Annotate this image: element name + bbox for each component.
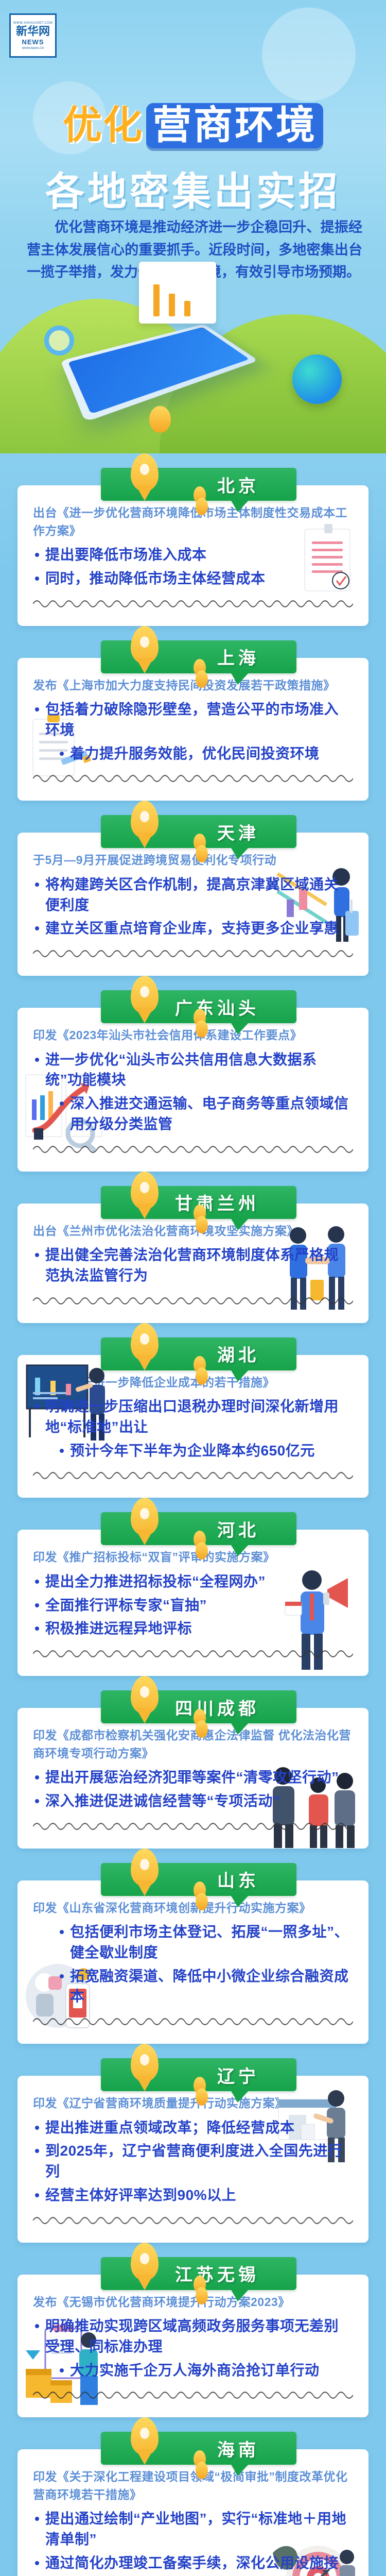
wave-divider [33,772,353,785]
city-name: 四川成都 [175,1694,259,1720]
bullet-item: 明确进一步压缩出口退税办理时间深化新增用地“标准地”出让 [33,1396,353,1437]
bullet-item: 提出全力推进招标投标“全程网办” [33,1571,353,1592]
wave-divider [33,947,353,960]
city-name: 广东汕头 [175,994,259,1020]
bullet-item: 拓宽融资渠道、降低中小微企业综合融资成本 [33,1966,353,2007]
location-pin-icon [131,1172,159,1210]
globe-icon [292,354,342,404]
city-card: 出台《关于进一步降低企业成本的若干措施》 明确进一步压缩出口退税办理时间深化新增… [17,1355,369,1498]
pin-hole [140,1686,149,1698]
city-name: 河北 [217,1516,259,1541]
dot-right-decor [196,1367,208,1385]
policy-document-title: 印发《关于深化工程建设项目领域“极简审批”制度改革优化营商环境若干措施》 [33,2468,353,2503]
measure-list: 将构建跨关区合作机制，提高京津冀区域通关便利度建立关区重点培育企业库，支持更多企… [33,874,353,939]
logo-news-text: NEWS [22,38,44,46]
city-badge[interactable]: 海南 [101,2432,296,2465]
bullet-item: 经营主体好评率达到90%以上 [33,2185,353,2206]
city-name: 北京 [217,472,259,497]
measure-list: 提出推进重点领域改革；降低经营成本到2025年，辽宁省营商便利度进入全国先进行列… [33,2117,353,2206]
dot-right-decor [196,670,208,688]
measure-list: 提出要降低市场准入成本同时，推动降低市场主体经营成本 [33,545,353,589]
city-card: 印发《推广招标投标“双盲”评审的实施方案》 提出全力推进招标投标“全程网办”全面… [17,1530,369,1676]
bullet-item: 建立关区重点培育企业库，支持更多企业享惠 [33,918,353,939]
city-badge[interactable]: 北京 [101,468,296,501]
pin-hole [140,2054,149,2065]
wave-divider [33,1143,353,1156]
bullet-item: 预计今年下半年为企业降本约650亿元 [33,1440,353,1461]
location-pin-icon [131,626,159,664]
city-section: 北京 出台《进一步优化营商环境降低市场主体制度性交易成本工作方案》 提出要降低市… [0,453,386,626]
measure-list: 提出开展惩治经济犯罪等案件“清零攻坚行动”深入推进促进诚信经营等“专项活动” [33,1767,353,1811]
city-section: 辽宁 印发《辽宁省营商环境质量提升行动实施方案》 提出推进重点领域改革；降低经营… [0,2044,386,2243]
city-name: 天津 [217,819,259,844]
city-section: 湖北 出台《关于进一步降低企业成本的若干措施》 明确进一步压缩出口退税办理时间深… [0,1323,386,1498]
location-pin-icon [131,2044,159,2082]
dot-right-decor [196,498,208,515]
pin-hole [140,2253,149,2264]
bar-2 [169,294,175,316]
city-badge[interactable]: 四川成都 [101,1690,296,1723]
city-section: 甘肃兰州 出台《兰州市优化法治化营商环境攻坚实施方案》 提出健全完善法治化营商环… [0,1172,386,1323]
city-badge[interactable]: 河北 [101,1512,296,1545]
bullet-item: 提出通过绘制“产业地图”，实行“标准地＋用地清单制” [33,2509,353,2550]
city-name: 甘肃兰州 [175,1190,259,1215]
city-card: 出台《进一步优化营商环境降低市场主体制度性交易成本工作方案》 提出要降低市场准入… [17,485,369,626]
hero-illustration [0,268,386,453]
pin-hole [140,1859,149,1870]
location-pin-icon [131,1849,159,1887]
policy-document-title: 于5月—9月开展促进跨境贸易便利化专项行动 [33,851,353,869]
chart-card-icon [139,262,216,324]
city-card: 印发《辽宁省营商环境质量提升行动实施方案》 提出推进重点领域改革；降低经营成本到… [17,2076,369,2243]
bullet-item: 包括便利市场主体登记、拓展“一照多址”、健全歇业制度 [33,1922,353,1963]
city-section: 天津 于5月—9月开展促进跨境贸易便利化专项行动 将构建跨关区合作机制，提高京津… [0,801,386,976]
city-name: 山东 [217,1867,259,1892]
pin-hole [140,1182,149,1193]
city-badge[interactable]: 辽宁 [101,2058,296,2091]
wave-divider [33,2015,353,2028]
bullet-item: 到2025年，辽宁省营商便利度进入全国先进行列 [33,2141,353,2182]
title-line-2: 各地密集出实招 [0,160,386,216]
wave-divider [33,1647,353,1660]
measure-list: 进一步优化“汕头市公共信用信息大数据系统”功能模块深入推进交通运输、电子商务等重… [33,1049,353,1134]
city-badge[interactable]: 上海 [101,640,296,673]
city-name: 上海 [217,644,259,669]
bullet-item: 积极推进远程异地评标 [33,1618,353,1639]
bullet-item: 深入推进交通运输、电子商务等重点领域信用分级分类监管 [33,1093,353,1134]
city-card: 发布《无锡市优化营商环境提升行动方案2023》 明确推动实现跨区域高频政务服务事… [17,2275,369,2418]
bar-1 [153,284,160,316]
wave-divider [33,1294,353,1308]
policy-document-title: 出台《兰州市优化法治化营商环境攻坚实施方案》 [33,1222,353,1240]
xinhua-logo: WWW.XINHUANET.COM 新华网 NEWS WWW.NEWS.CN [9,13,57,58]
pin-hole [140,986,149,997]
page-title: 优化营商环境 各地密集出实招 [0,103,386,216]
city-badge[interactable]: 广东汕头 [101,990,296,1023]
logo-top-url: WWW.XINHUANET.COM [13,22,53,25]
pin-hole [140,1508,149,1519]
bullet-item: 着力提升服务效能，优化民间投资环境 [33,743,353,764]
location-pin-icon [131,976,159,1014]
dot-right-decor [196,1216,208,1233]
wave-divider [33,2388,353,2402]
bullet-item: 提出健全完善法治化营商环境制度体系严格规范执法监管行为 [33,1245,353,1286]
dot-right-decor [196,2462,208,2479]
logo-wordmark: 新华网 [16,26,50,37]
bullet-item: 深入推进促进诚信经营等“专项活动” [33,1791,353,1811]
policy-document-title: 出台《关于进一步降低企业成本的若干措施》 [33,1374,353,1392]
city-section: 上海 发布《上海市加大力度支持民间投资发展若干政策措施》 包括着力破除隐形壁垒，… [0,626,386,801]
bullet-item: 提出要降低市场准入成本 [33,545,353,565]
wave-divider [33,2214,353,2227]
bar-3 [184,301,190,316]
city-section: 河北 印发《推广招标投标“双盲”评审的实施方案》 提出全力推进招标投标“全程网办… [0,1498,386,1676]
city-badge[interactable]: 山东 [101,1863,296,1896]
wave-divider [33,1820,353,1833]
measure-list: 提出全力推进招标投标“全程网办”全面推行评标专家“盲抽”积极推进远程异地评标 [33,1571,353,1639]
wave-divider [33,1469,353,1482]
measure-list: 明确推动实现跨区域高频政务服务事项无差别受理、同标准办理大力实施千企万人海外商洽… [33,2316,353,2380]
policy-document-title: 发布《上海市加大力度支持民间投资发展若干政策措施》 [33,676,353,694]
dot-right-decor [196,845,208,862]
measure-list: 包括着力破除隐形壁垒，营造公平的市场准入环境着力提升服务效能，优化民间投资环境 [33,699,353,764]
city-card: 印发《山东省深化营商环境创新提升行动实施方案》 包括便利市场主体登记、拓展“一照… [17,1880,369,2044]
city-card: 印发《成都市检察机关强化安商惠企法律监督 优化法治化营商环境专项行动方案》 提出… [17,1708,369,1849]
header-hero: WWW.XINHUANET.COM 新华网 NEWS WWW.NEWS.CN 优… [0,0,386,453]
bullet-item: 通过简化办理竣工备案手续，深化公用设施接入服务改革 [33,2553,353,2576]
pin-hole [140,636,149,648]
dot-right-decor [196,1020,208,1038]
location-pin-icon [131,453,159,492]
dot-right-decor [196,1893,208,1910]
city-name: 海南 [217,2436,259,2461]
bullet-item: 包括着力破除隐形壁垒，营造公平的市场准入环境 [33,699,353,740]
city-name: 湖北 [217,1341,259,1366]
city-sections: 北京 出台《进一步优化营商环境降低市场主体制度性交易成本工作方案》 提出要降低市… [0,453,386,2576]
city-card: 出台《兰州市优化法治化营商环境攻坚实施方案》 提出健全完善法治化营商环境制度体系… [17,1204,369,1323]
location-pin-icon [131,1498,159,1536]
city-badge[interactable]: 湖北 [101,1337,296,1370]
city-card: 印发《2023年汕头市社会信用体系建设工作要点》 进一步优化“汕头市公共信用信息… [17,1008,369,1172]
policy-document-title: 印发《2023年汕头市社会信用体系建设工作要点》 [33,1026,353,1044]
policy-document-title: 印发《成都市检察机关强化安商惠企法律监督 优化法治化营商环境专项行动方案》 [33,1726,353,1762]
city-section: 广东汕头 印发《2023年汕头市社会信用体系建设工作要点》 进一步优化“汕头市公… [0,976,386,1172]
policy-document-title: 印发《推广招标投标“双盲”评审的实施方案》 [33,1548,353,1566]
city-section: 四川成都 印发《成都市检察机关强化安商惠企法律监督 优化法治化营商环境专项行动方… [0,1676,386,1849]
dot-right-decor [196,1542,208,1560]
measure-list: 明确进一步压缩出口退税办理时间深化新增用地“标准地”出让预计今年下半年为企业降本… [33,1396,353,1461]
dot-right-decor [196,2287,208,2304]
city-badge[interactable]: 江苏无锡 [101,2257,296,2290]
location-pin-icon [131,1676,159,1714]
city-card: 印发《关于深化工程建设项目领域“极简审批”制度改革优化营商环境若干措施》 提出通… [17,2449,369,2576]
bullet-item: 明确推动实现跨区域高频政务服务事项无差别受理、同标准办理 [33,2316,353,2357]
city-name: 辽宁 [217,2062,259,2088]
location-pin-icon [131,801,159,839]
bullet-item: 大力实施千企万人海外商洽抢订单行动 [33,2360,353,2381]
bullet-item: 全面推行评标专家“盲抽” [33,1595,353,1616]
city-name: 江苏无锡 [175,2261,259,2286]
location-pin-icon [131,2417,159,2455]
logo-bottom-url: WWW.NEWS.CN [22,47,44,50]
title-line-1: 优化营商环境 [0,103,386,148]
policy-document-title: 发布《无锡市优化营商环境提升行动方案2023》 [33,2293,353,2311]
title-boxed: 营商环境 [146,103,323,148]
phone-screen [68,327,249,414]
city-card: 于5月—9月开展促进跨境贸易便利化专项行动 将构建跨关区合作机制，提高京津冀区域… [17,833,369,976]
bullet-item: 将构建跨关区合作机制，提高京津冀区域通关便利度 [33,874,353,916]
policy-document-title: 出台《进一步优化营商环境降低市场主体制度性交易成本工作方案》 [33,504,353,539]
bullet-item: 同时，推动降低市场主体经营成本 [33,568,353,589]
bullet-item: 提出开展惩治经济犯罪等案件“清零攻坚行动” [33,1767,353,1788]
bullet-item: 提出推进重点领域改革；降低经营成本 [33,2117,353,2138]
location-pin-icon [131,2243,159,2281]
dot-right-decor [196,1720,208,1738]
city-card: 发布《上海市加大力度支持民间投资发展若干政策措施》 包括着力破除隐形壁垒，营造公… [17,658,369,801]
city-badge[interactable]: 甘肃兰州 [101,1186,296,1219]
location-pin-icon [131,1323,159,1361]
city-section: 江苏无锡 发布《无锡市优化营商环境提升行动方案2023》 明确推动实现跨区域高频… [0,2243,386,2418]
measure-list: 提出健全完善法治化营商环境制度体系严格规范执法监管行为 [33,1245,353,1286]
pin-hole [140,2428,149,2439]
measure-list: 包括便利市场主体登记、拓展“一照多址”、健全歇业制度拓宽融资渠道、降低中小微企业… [33,1922,353,2007]
coin-icon [149,406,171,433]
wave-divider [33,597,353,611]
city-section: 海南 印发《关于深化工程建设项目领域“极简审批”制度改革优化营商环境若干措施》 … [0,2417,386,2576]
measure-list: 提出通过绘制“产业地图”，实行“标准地＋用地清单制”通过简化办理竣工备案手续，深… [33,2509,353,2576]
pin-hole [140,811,149,822]
bullet-item: 进一步优化“汕头市公共信用信息大数据系统”功能模块 [33,1049,353,1091]
pin-hole [140,464,149,475]
magnifier-icon [44,326,74,355]
policy-document-title: 印发《辽宁省营商环境质量提升行动实施方案》 [33,2094,353,2112]
pin-hole [140,1333,149,1345]
title-highlight: 优化 [63,104,143,147]
dot-right-decor [196,2088,208,2106]
city-section: 山东 印发《山东省深化营商环境创新提升行动实施方案》 包括便利市场主体登记、拓展… [0,1849,386,2044]
policy-document-title: 印发《山东省深化营商环境创新提升行动实施方案》 [33,1899,353,1917]
city-badge[interactable]: 天津 [101,815,296,848]
